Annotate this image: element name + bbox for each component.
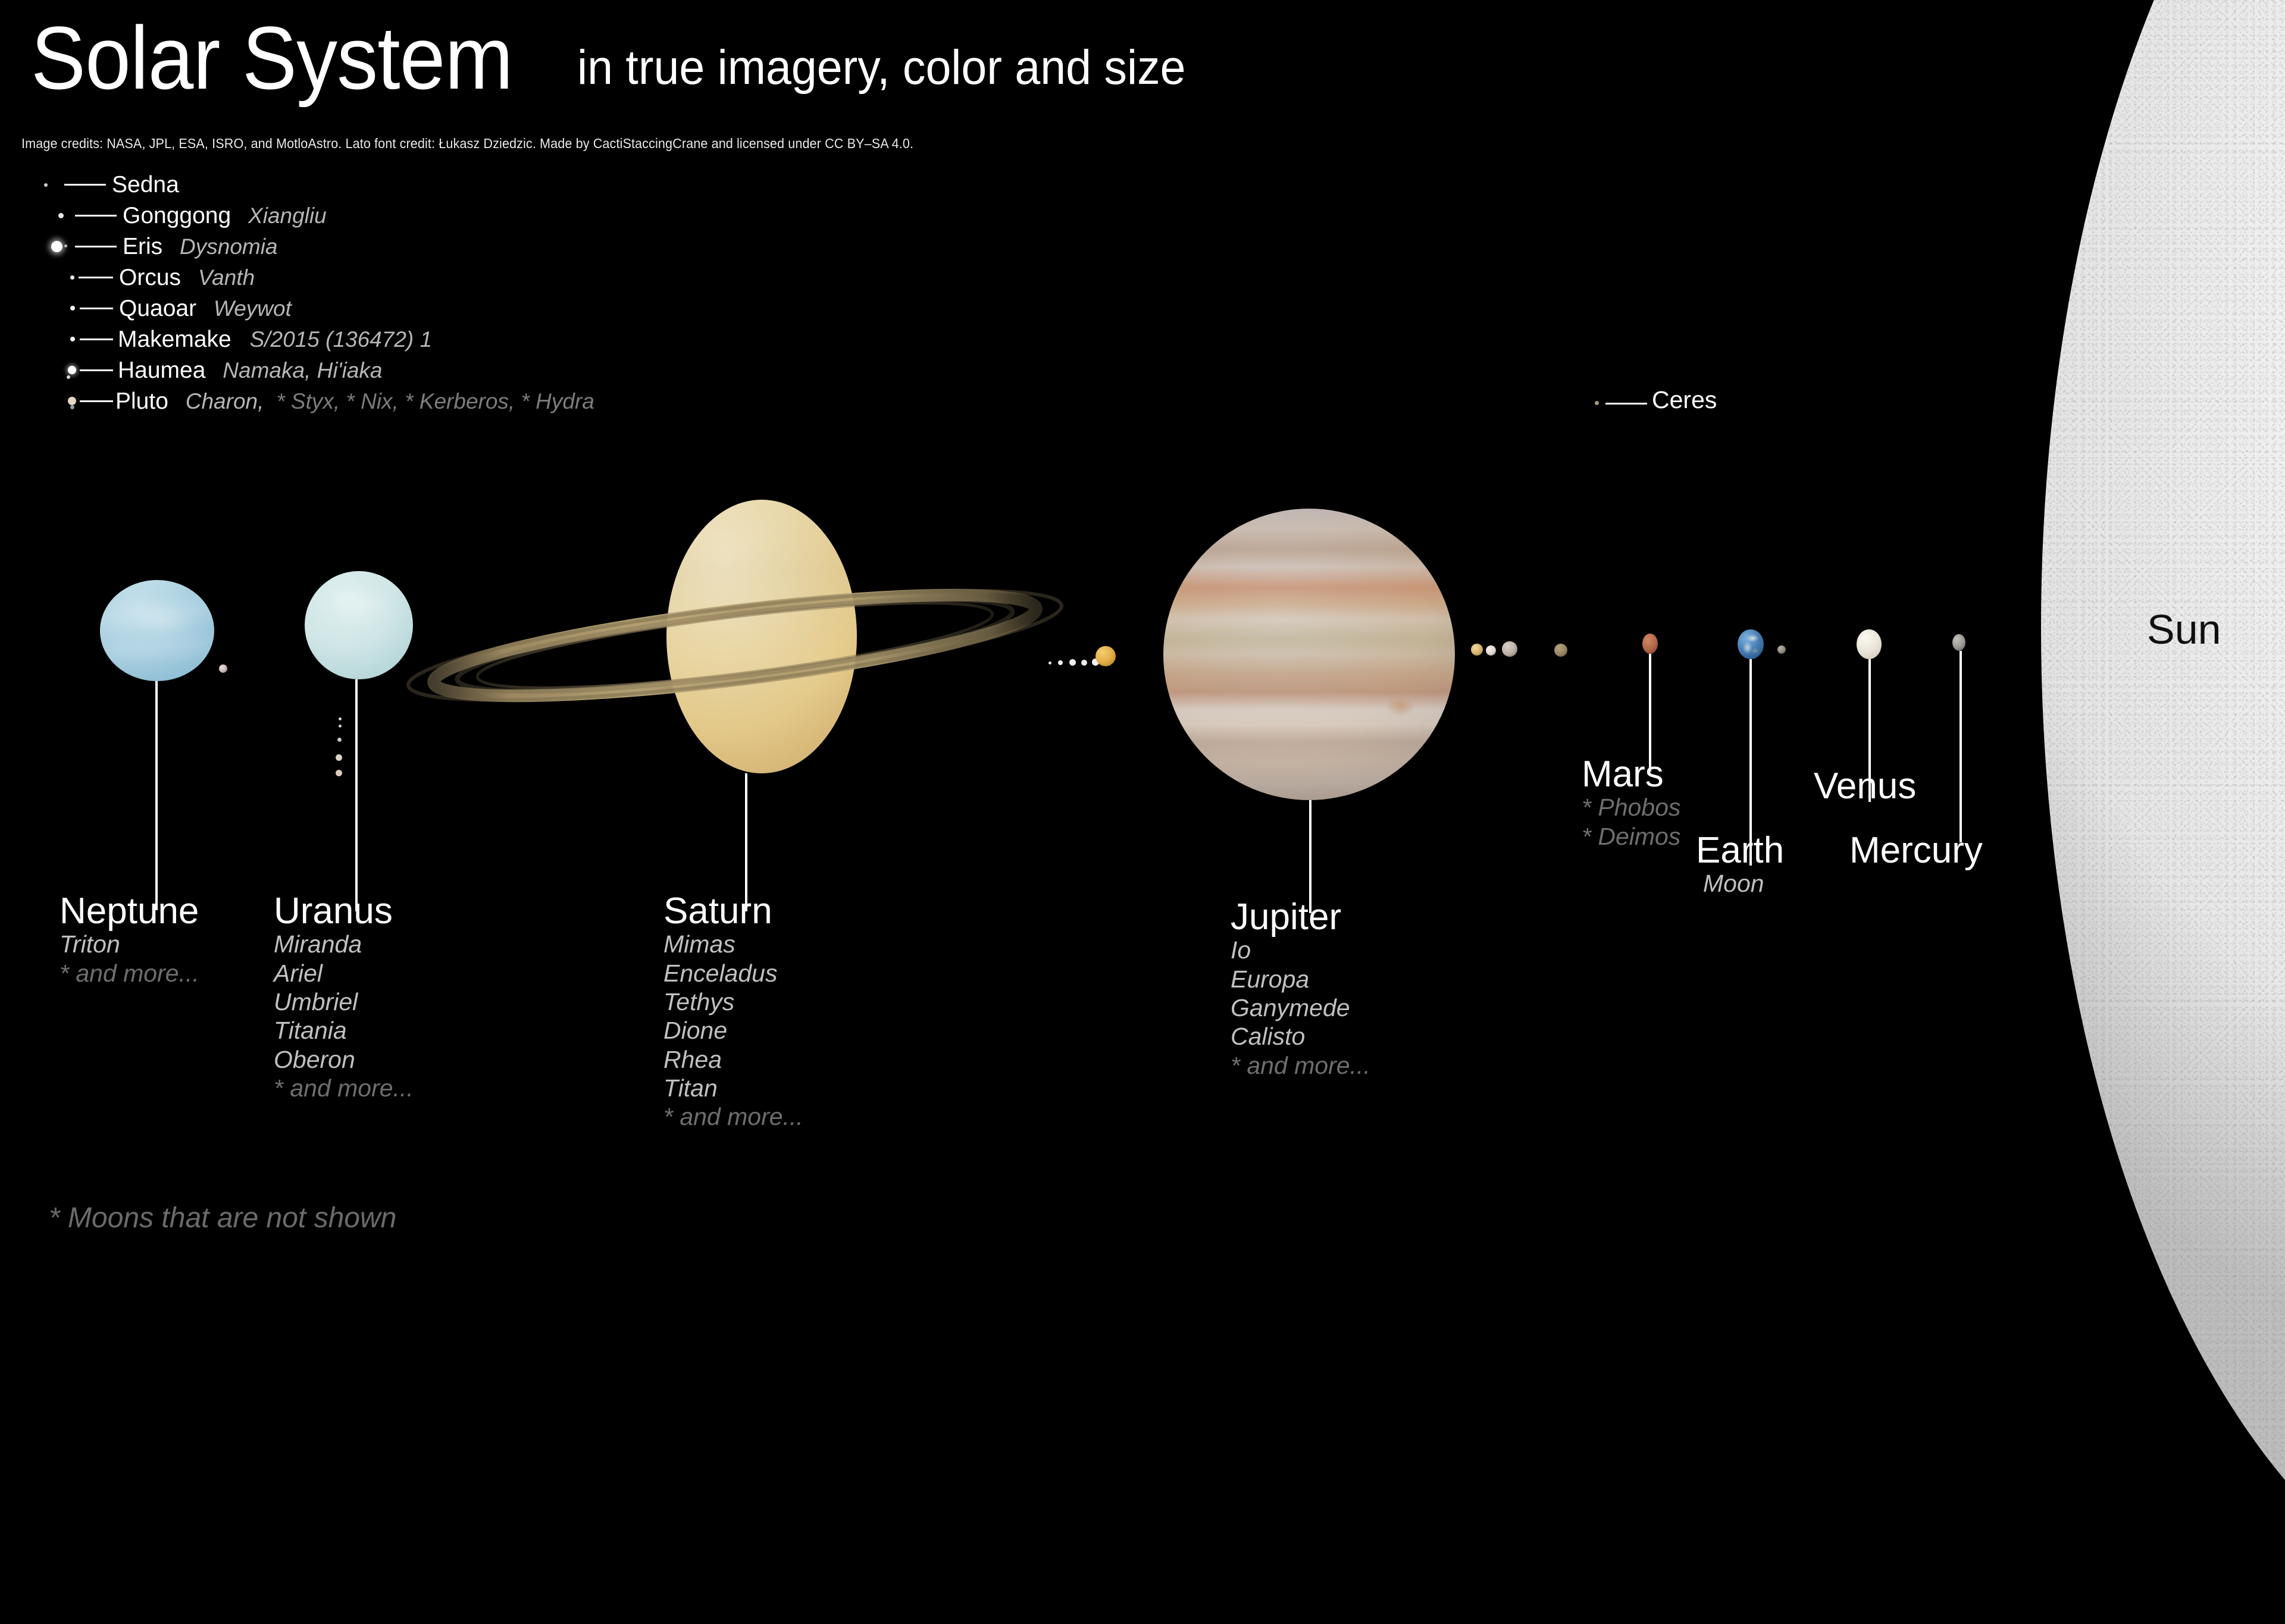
legend-label-orcus: Orcus Vanth [119, 262, 255, 293]
makemake-name: Makemake [118, 327, 231, 352]
uranus-moon-oberon: Oberon [274, 1045, 414, 1074]
sun-label: Sun [2147, 606, 2221, 653]
gonggong-leader-line [75, 215, 117, 217]
quaoar-dot [70, 306, 75, 311]
earth-body [1738, 629, 1764, 659]
jupiter-moon-label-calisto: Calisto [1231, 1022, 1370, 1051]
ceres-leader-line [1605, 403, 1647, 405]
uranus-moon-1 [339, 717, 342, 720]
eris-leader-line [75, 246, 117, 247]
saturn-moon-tethys [1069, 659, 1076, 666]
saturn-moon-label-mimas: Mimas [663, 930, 803, 958]
earth-name: Earth [1696, 832, 1784, 869]
legend-label-quaoar: Quaoar Weywot [119, 293, 292, 324]
sun-granulation-texture [2041, 0, 2285, 1624]
jupiter-moon-label-europa: Europa [1231, 965, 1370, 993]
eris-name: Eris [123, 234, 162, 259]
uranus-label: Uranus Miranda Ariel Umbriel Titania Obe… [274, 892, 414, 1102]
uranus-moon-5 [336, 770, 342, 776]
triton-moon [219, 664, 227, 673]
earth-label: Earth Moon [1696, 832, 1784, 898]
saturn-moon-label-titan: Titan [663, 1074, 803, 1102]
uranus-moon-4 [336, 754, 342, 761]
earth-moon-label: Moon [1703, 869, 1784, 898]
uranus-moon-3 [337, 738, 342, 742]
sedna-leader-line [64, 184, 106, 186]
uranus-moon-ariel: Ariel [274, 959, 414, 987]
mars-label: Mars * Phobos * Deimos [1582, 755, 1680, 851]
haumea-leader-line [80, 369, 113, 371]
jupiter-moon-label-io: Io [1231, 936, 1370, 964]
legend-label-sedna: Sedna [112, 170, 179, 200]
uranus-name: Uranus [274, 892, 414, 930]
credits-line: Image credits: NASA, JPL, ESA, ISRO, and… [21, 136, 913, 152]
saturn-moon-dione [1081, 660, 1087, 666]
jupiter-moon-label-ganymede: Ganymede [1231, 993, 1370, 1022]
sun-disk [2041, 0, 2285, 1624]
eris-dot [51, 241, 62, 252]
pluto-leader-line [80, 400, 113, 402]
charon-moon-dot [70, 405, 74, 409]
uranus-moon-titania: Titania [274, 1016, 414, 1045]
neptune-body [100, 580, 214, 681]
jupiter-body [1163, 509, 1455, 800]
mercury-body [1952, 634, 1965, 651]
quaoar-leader-line [80, 308, 113, 309]
infographic-canvas: Sun Solar Systemin true imagery, color a… [0, 0, 2285, 1285]
venus-label: Venus [1814, 767, 1916, 805]
saturn-moon-label-dione: Dione [663, 1016, 803, 1045]
uranus-moon-umbriel: Umbriel [274, 987, 414, 1016]
jupiter-moon-io [1471, 644, 1483, 656]
legend-label-pluto: Pluto Charon, * Styx, * Nix, * Kerberos,… [115, 386, 594, 417]
sedna-dot [44, 183, 48, 187]
haumea-name: Haumea [118, 358, 205, 383]
pluto-name: Pluto [115, 388, 168, 414]
legend-label-makemake: Makemake S/2015 (136472) 1 [118, 324, 432, 355]
uranus-leader-line [355, 679, 358, 911]
saturn-moon-enceladus [1058, 660, 1063, 665]
gonggong-dot [58, 213, 64, 218]
saturn-moon-label-rhea: Rhea [663, 1045, 803, 1074]
orcus-name: Orcus [119, 265, 181, 290]
mercury-leader-line [1960, 651, 1962, 842]
neptune-label: Neptune Triton * and more... [60, 892, 199, 987]
footnote-moons-not-shown: * Moons that are not shown [49, 1202, 396, 1234]
makemake-moons: S/2015 (136472) 1 [250, 327, 433, 352]
sedna-name: Sedna [112, 172, 179, 197]
venus-body [1857, 629, 1882, 659]
legend-label-gonggong: Gonggong Xiangliu [123, 200, 327, 231]
quaoar-name: Quaoar [119, 296, 196, 321]
jupiter-moon-europa [1486, 645, 1496, 656]
saturn-label: Saturn Mimas Enceladus Tethys Dione Rhea… [663, 892, 803, 1131]
orcus-leader-line [79, 277, 113, 278]
legend-label-eris: Eris Dysnomia [123, 231, 278, 262]
makemake-leader-line [80, 338, 113, 340]
mercury-name: Mercury [1849, 832, 1983, 869]
namaka-moon-dot [67, 375, 70, 379]
uranus-moon-2 [339, 725, 342, 728]
haumea-moons: Namaka, Hi'iaka [223, 358, 382, 383]
orcus-moons: Vanth [198, 265, 255, 290]
mars-name: Mars [1582, 755, 1680, 793]
saturn-moon-label-enceladus: Enceladus [663, 959, 803, 987]
saturn-moon-label-tethys: Tethys [663, 987, 803, 1016]
title-main: Solar System [31, 13, 513, 102]
ceres-dot [1595, 401, 1599, 405]
mars-moon-phobos: * Phobos [1582, 793, 1680, 822]
neptune-more-moons: * and more... [60, 959, 199, 987]
haumea-dot [68, 366, 76, 374]
jupiter-name: Jupiter [1231, 898, 1370, 936]
mars-moon-deimos: * Deimos [1582, 822, 1680, 851]
neptune-moon-triton: Triton [60, 930, 199, 958]
saturn-rings [417, 580, 1053, 711]
pluto-moons: Charon, [186, 389, 264, 413]
eris-moons: Dysnomia [180, 234, 278, 259]
jupiter-moon-ganymede [1502, 641, 1517, 657]
uranus-moon-miranda: Miranda [274, 930, 414, 958]
moon-body [1777, 645, 1786, 654]
title-subtitle: in true imagery, color and size [577, 43, 1185, 92]
makemake-dot [70, 337, 75, 341]
jupiter-more-moons: * and more... [1231, 1051, 1370, 1080]
uranus-more-moons: * and more... [274, 1074, 414, 1102]
mercury-label: Mercury [1849, 832, 1983, 869]
pluto-dot [68, 397, 76, 405]
mars-body [1642, 634, 1658, 654]
jupiter-label: Jupiter Io Europa Ganymede Calisto * and… [1231, 898, 1370, 1080]
saturn-more-moons: * and more... [663, 1102, 803, 1131]
pluto-moons-not-shown: * Styx, * Nix, * Kerberos, * Hydra [276, 389, 594, 413]
gonggong-name: Gonggong [123, 203, 231, 228]
gonggong-moons: Xiangliu [248, 203, 327, 228]
dysnomia-moon-dot [64, 244, 67, 247]
neptune-name: Neptune [60, 892, 199, 930]
jupiter-great-red-spot [1386, 696, 1415, 716]
neptune-leader-line [155, 681, 158, 910]
ceres-label: Ceres [1652, 386, 1717, 414]
saturn-titan [1095, 646, 1116, 666]
quaoar-moons: Weywot [214, 296, 292, 321]
orcus-dot [70, 275, 74, 280]
jupiter-moon-calisto [1554, 644, 1567, 657]
venus-name: Venus [1814, 767, 1916, 805]
saturn-moon-mimas [1048, 661, 1051, 664]
saturn-name: Saturn [663, 892, 803, 930]
legend-label-haumea: Haumea Namaka, Hi'iaka [118, 355, 382, 386]
uranus-body [305, 571, 413, 679]
page-title: Solar Systemin true imagery, color and s… [31, 13, 1225, 102]
